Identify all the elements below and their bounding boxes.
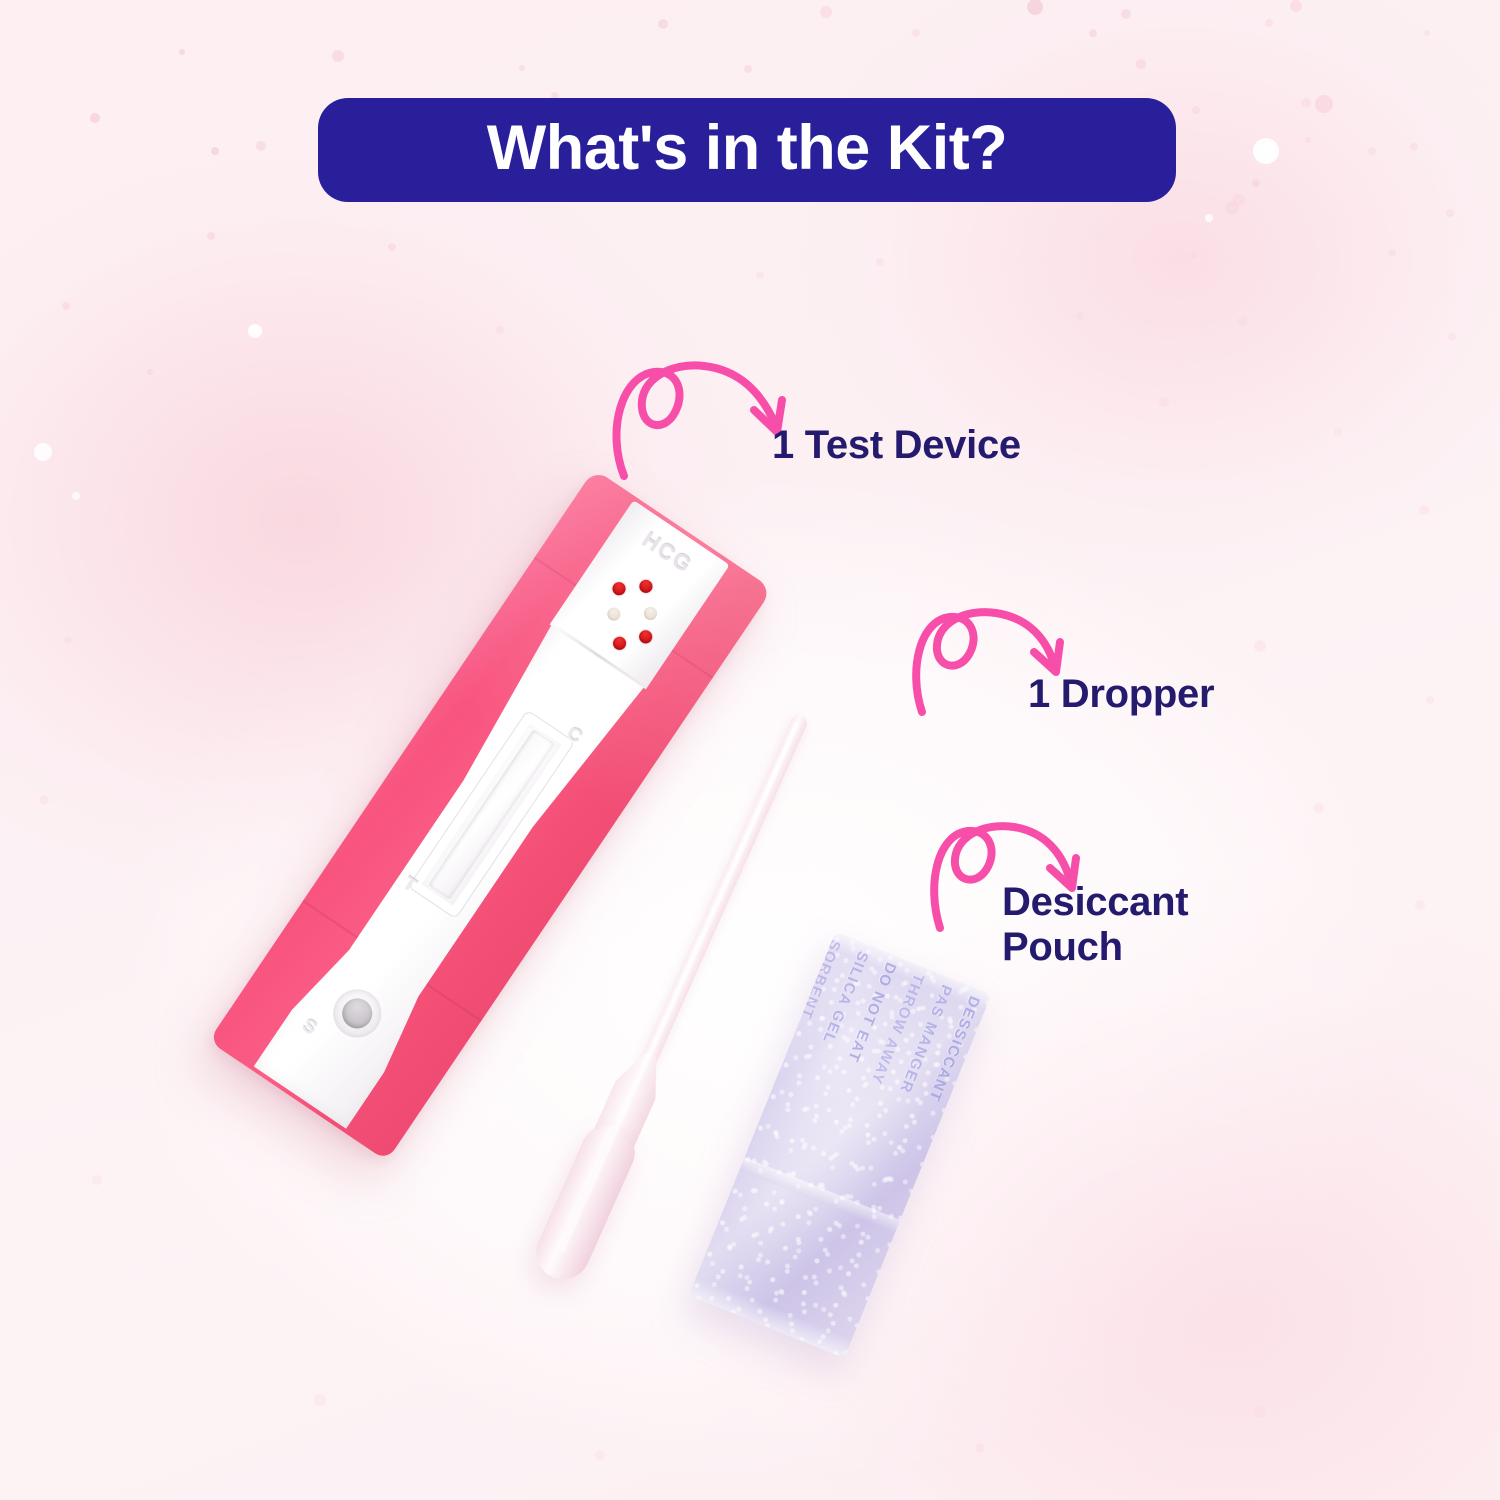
- background-speck: [820, 6, 832, 18]
- background-speck: [876, 258, 884, 266]
- background-speck: [332, 50, 344, 62]
- background-speck: [1205, 214, 1213, 222]
- background-speck: [1305, 137, 1311, 143]
- background-speck: [1448, 333, 1456, 341]
- background-speck: [207, 232, 215, 240]
- background-speck: [1424, 30, 1430, 36]
- background-speck: [1253, 138, 1279, 164]
- background-speck: [519, 65, 525, 71]
- background-speck: [1410, 143, 1418, 151]
- background-speck: [1027, 0, 1043, 15]
- background-speck: [147, 369, 153, 375]
- background-speck: [1314, 803, 1324, 813]
- background-speck: [658, 19, 668, 29]
- background-speck: [1334, 428, 1342, 436]
- background-speck: [92, 1175, 102, 1185]
- background-speck: [72, 492, 80, 500]
- callout-label-dropper: 1 Dropper: [1028, 672, 1214, 717]
- background-speck: [975, 1443, 985, 1453]
- page-title-banner: What's in the Kit?: [318, 98, 1176, 202]
- background-speck: [1265, 143, 1275, 153]
- background-speck: [1121, 9, 1131, 19]
- callout-label-desiccant-pouch: Desiccant Pouch: [1002, 880, 1188, 970]
- background-speck: [64, 636, 72, 644]
- background-speck: [90, 113, 100, 123]
- background-speck: [1301, 98, 1311, 108]
- page-title: What's in the Kit?: [487, 117, 1007, 180]
- background-speck: [211, 147, 219, 155]
- background-speck: [1265, 19, 1273, 27]
- background-speck: [912, 29, 920, 37]
- background-speck: [1159, 397, 1169, 407]
- background-speck: [1076, 312, 1084, 320]
- background-speck: [1233, 194, 1245, 206]
- background-speck: [34, 443, 52, 461]
- desiccant-pouch-illustration: SORBENTSILICA GELDO NOT EATTHROW AWAYPAS…: [660, 905, 1020, 1385]
- background-speck: [179, 49, 185, 55]
- background-speck: [1290, 0, 1302, 12]
- background-speck: [1388, 249, 1396, 257]
- background-speck: [1192, 106, 1200, 114]
- background-speck: [1419, 505, 1429, 515]
- pouch-text-line: PAS MANGER: [949, 1050, 992, 1358]
- background-speck: [314, 1394, 326, 1406]
- callout-label-test-device: 1 Test Device: [772, 423, 1021, 468]
- background-speck: [256, 141, 266, 151]
- background-speck: [1191, 252, 1197, 258]
- background-speck: [1136, 59, 1146, 69]
- background-speck: [1446, 209, 1454, 217]
- background-speck: [1426, 696, 1434, 704]
- background-speck: [1415, 900, 1425, 910]
- background-speck: [744, 65, 752, 73]
- background-speck: [1254, 1406, 1266, 1418]
- background-speck: [1254, 640, 1266, 652]
- background-speck: [496, 326, 504, 334]
- background-speck: [62, 302, 70, 310]
- kit-contents-infographic: What's in the Kit? HCG C T S: [0, 0, 1500, 1500]
- background-speck: [1225, 201, 1239, 215]
- background-speck: [1368, 147, 1376, 155]
- background-speck: [595, 1450, 605, 1460]
- background-speck: [1252, 179, 1260, 187]
- background-speck: [388, 243, 396, 251]
- background-speck: [1238, 316, 1248, 326]
- background-speck: [1315, 95, 1333, 113]
- background-speck: [756, 271, 764, 279]
- background-speck: [248, 324, 262, 338]
- background-speck: [39, 795, 49, 805]
- background-speck: [1089, 29, 1097, 37]
